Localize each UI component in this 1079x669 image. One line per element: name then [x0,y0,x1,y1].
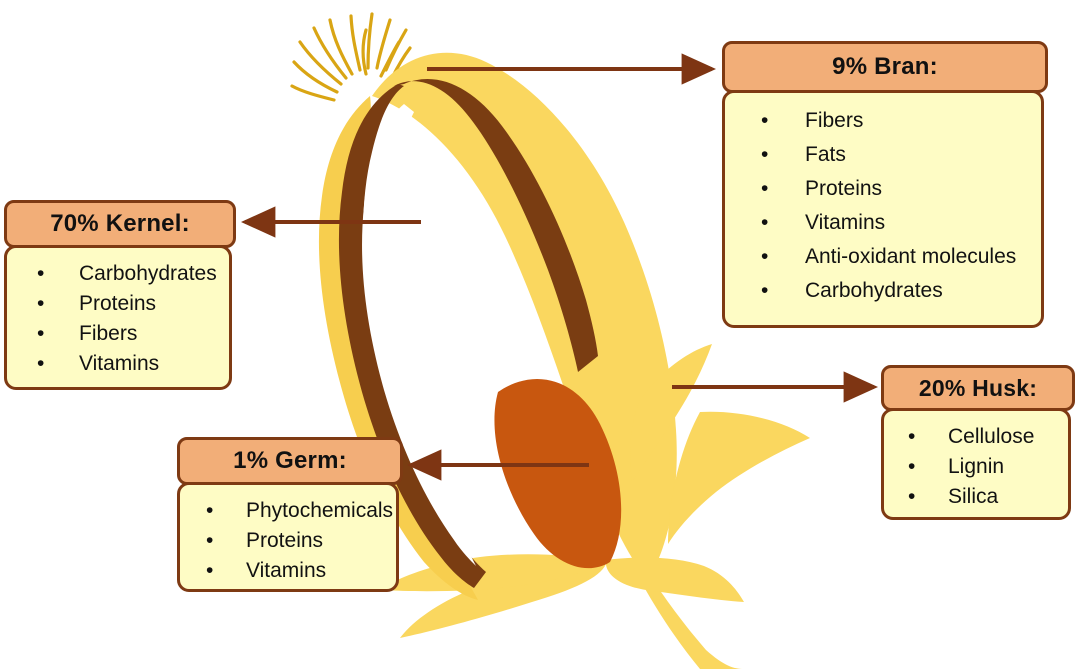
list-item: • Vitamins [21,348,223,378]
list-item-label: Phytochemicals [246,500,393,521]
list-item-label: Fibers [79,323,223,344]
list-item: • Vitamins [192,555,390,585]
list-item-label: Vitamins [79,353,223,374]
callout-kernel-title: 70% Kernel: [4,200,236,248]
callout-germ-body: • Phytochemicals • Proteins • Vitamins [177,482,399,592]
callout-bran-body: • Fibers • Fats • Proteins • Vitamins • [722,90,1044,328]
list-item: • Fibers [743,103,1035,137]
list-item-label: Fats [805,144,1035,165]
bullet-icon: • [37,293,57,314]
list-item-label: Vitamins [805,212,1035,233]
list-item: • Carbohydrates [21,258,223,288]
list-item-label: Cellulose [948,426,1062,447]
bullet-icon: • [37,353,57,374]
list-item-label: Proteins [805,178,1035,199]
bullet-icon: • [37,323,57,344]
list-item-label: Fibers [805,110,1035,131]
list-item: • Proteins [743,171,1035,205]
bullet-icon: • [908,486,928,507]
list-item: • Phytochemicals [192,495,390,525]
list-item-label: Proteins [246,530,390,551]
bullet-icon: • [206,500,226,521]
list-item: • Lignin [894,451,1062,481]
diagram-canvas: 9% Bran: • Fibers • Fats • Proteins • Vi… [0,0,1079,669]
callout-husk-body: • Cellulose • Lignin • Silica [881,408,1071,520]
callout-bran-title: 9% Bran: [722,41,1048,93]
list-item: • Fats [743,137,1035,171]
bullet-icon: • [761,144,783,165]
callout-kernel-body: • Carbohydrates • Proteins • Fibers • Vi… [4,245,232,390]
list-item-label: Anti-oxidant molecules [805,246,1035,267]
list-item: • Anti-oxidant molecules [743,239,1035,273]
callout-kernel-list: • Carbohydrates • Proteins • Fibers • Vi… [21,258,223,378]
list-item: • Proteins [21,288,223,318]
callout-husk-list: • Cellulose • Lignin • Silica [894,421,1062,511]
callout-germ-title: 1% Germ: [177,437,403,485]
bullet-icon: • [908,426,928,447]
bullet-icon: • [206,560,226,581]
list-item: • Carbohydrates [743,273,1035,307]
list-item-label: Silica [948,486,1062,507]
list-item-label: Carbohydrates [805,280,1035,301]
list-item-label: Carbohydrates [79,263,223,284]
list-item: • Silica [894,481,1062,511]
bullet-icon: • [761,246,783,267]
bullet-icon: • [37,263,57,284]
bullet-icon: • [206,530,226,551]
list-item: • Proteins [192,525,390,555]
list-item: • Vitamins [743,205,1035,239]
list-item-label: Proteins [79,293,223,314]
list-item-label: Lignin [948,456,1062,477]
bullet-icon: • [761,212,783,233]
bullet-icon: • [761,178,783,199]
bullet-icon: • [761,110,783,131]
callout-bran-list: • Fibers • Fats • Proteins • Vitamins • [743,103,1035,307]
bullet-icon: • [908,456,928,477]
callout-germ-list: • Phytochemicals • Proteins • Vitamins [192,495,390,585]
list-item-label: Vitamins [246,560,390,581]
list-item: • Cellulose [894,421,1062,451]
bullet-icon: • [761,280,783,301]
callout-husk-title: 20% Husk: [881,365,1075,411]
list-item: • Fibers [21,318,223,348]
